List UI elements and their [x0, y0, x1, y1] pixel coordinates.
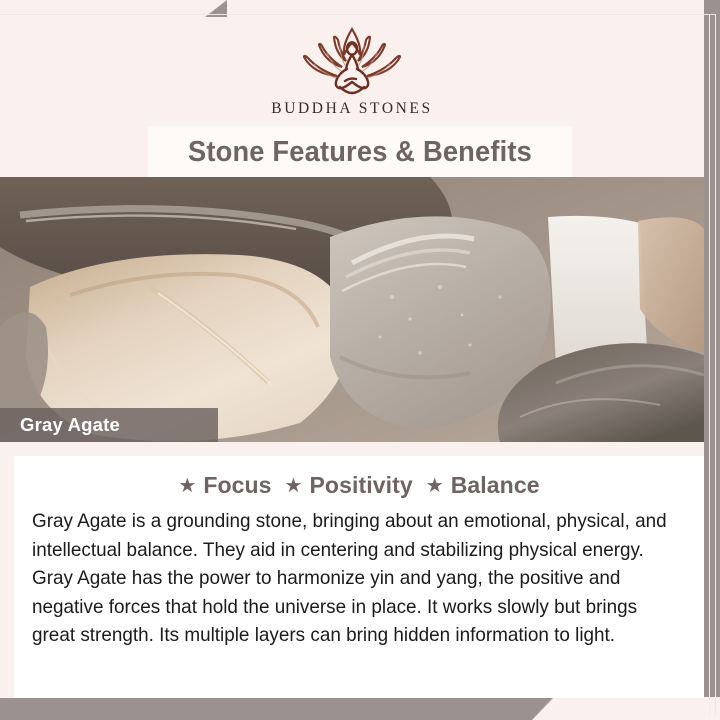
- stone-name-label: Gray Agate: [0, 408, 218, 442]
- keyword-list: ★ Focus ★ Positivity ★ Balance: [32, 472, 686, 499]
- keyword-label: Balance: [451, 472, 540, 499]
- content-inner: ★ Focus ★ Positivity ★ Balance Gray Agat…: [14, 456, 704, 698]
- hairline-right-inner: [715, 14, 716, 716]
- corner-notch-bottom-right: [552, 697, 720, 720]
- keyword-item-focus: ★ Focus: [178, 472, 271, 499]
- stone-photo: Gray Agate: [0, 177, 704, 442]
- keyword-item-balance: ★ Balance: [426, 472, 540, 499]
- stone-description: Gray Agate is a grounding stone, bringin…: [32, 508, 676, 651]
- hairline-right-outer: [709, 14, 710, 716]
- keyword-item-positivity: ★ Positivity: [285, 472, 413, 499]
- keyword-label: Positivity: [309, 472, 412, 499]
- page-title: Stone Features & Benefits: [188, 136, 532, 169]
- lotus-meditation-icon: [277, 23, 427, 97]
- star-icon: ★: [285, 476, 303, 496]
- hairline-top: [0, 14, 716, 15]
- star-icon: ★: [426, 476, 444, 496]
- corner-notch-bottom-right-diagonal: [532, 697, 554, 720]
- brand-logo: BUDDHA STONES: [271, 23, 432, 118]
- brand-name: BUDDHA STONES: [271, 100, 432, 118]
- stone-photo-image: [0, 177, 704, 442]
- content-panel: ★ Focus ★ Positivity ★ Balance Gray Agat…: [14, 442, 704, 698]
- stone-info-card: BUDDHA STONES Stone Features & Benefits: [0, 0, 720, 720]
- title-banner: Stone Features & Benefits: [148, 126, 572, 178]
- star-icon: ★: [178, 476, 196, 496]
- stone-name-text: Gray Agate: [20, 414, 120, 436]
- keyword-label: Focus: [203, 472, 271, 499]
